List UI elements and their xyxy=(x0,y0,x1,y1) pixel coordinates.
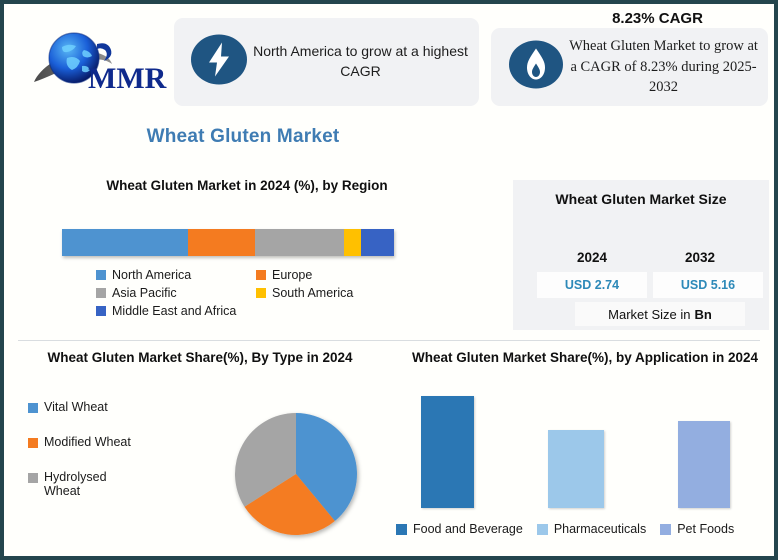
legend-label: Food and Beverage xyxy=(413,522,523,536)
cagr-description: Wheat Gluten Market to grow at a CAGR of… xyxy=(569,36,758,98)
legend-label: South America xyxy=(272,286,353,300)
region-segment-middle-east-africa xyxy=(361,229,394,256)
legend-swatch-south-america xyxy=(256,288,266,298)
svg-text:MMR: MMR xyxy=(88,62,167,95)
application-bar-plot xyxy=(396,396,774,508)
legend-label: North America xyxy=(112,268,191,282)
region-chart-title: Wheat Gluten Market in 2024 (%), by Regi… xyxy=(4,178,490,193)
infographic-frame: MMR North America to grow at a highest C… xyxy=(0,0,778,560)
market-size-year-2032: 2032 xyxy=(645,250,755,265)
market-size-unit: Bn xyxy=(695,307,712,322)
page-title: Wheat Gluten Market xyxy=(4,126,482,148)
mmr-logo: MMR xyxy=(26,24,176,96)
legend-label: Pharmaceuticals xyxy=(554,522,646,536)
type-pie-chart xyxy=(232,410,364,542)
legend-label: Asia Pacific xyxy=(112,286,177,300)
legend-item-middle-east-and-africa: Middle East and Africa xyxy=(96,304,356,318)
legend-swatch-middle-east-and-africa xyxy=(96,306,106,316)
region-segment-north-america xyxy=(62,229,188,256)
legend-row: Asia Pacific South America xyxy=(96,284,446,302)
region-segment-europe xyxy=(188,229,254,256)
legend-item-north-america: North America xyxy=(96,268,256,282)
cagr-badge: Wheat Gluten Market to grow at a CAGR of… xyxy=(491,28,768,106)
legend-item-hydrolysed-wheat: Hydrolysed Wheat xyxy=(28,470,138,498)
market-size-unit-note: Market Size in Bn xyxy=(575,302,745,326)
legend-item-modified-wheat: Modified Wheat xyxy=(28,435,198,449)
market-size-value-2024: USD 2.74 xyxy=(537,272,647,298)
legend-label: Middle East and Africa xyxy=(112,304,236,318)
legend-label: Pet Foods xyxy=(677,522,734,536)
legend-label: Hydrolysed Wheat xyxy=(44,470,138,498)
legend-swatch-modified-wheat xyxy=(28,438,38,448)
legend-item-vital-wheat: Vital Wheat xyxy=(28,400,198,414)
legend-row: Middle East and Africa xyxy=(96,302,446,320)
legend-item-europe: Europe xyxy=(256,268,426,282)
app-bar-pet-foods xyxy=(678,421,730,508)
legend-swatch-vital-wheat xyxy=(28,403,38,413)
type-chart-title: Wheat Gluten Market Share(%), By Type in… xyxy=(10,348,390,368)
pie-svg xyxy=(232,410,364,542)
flame-icon xyxy=(507,36,565,99)
header: MMR North America to grow at a highest C… xyxy=(4,4,774,116)
market-size-unit-prefix: Market Size in xyxy=(608,307,690,322)
mmr-logo-graphic: MMR xyxy=(26,24,176,96)
app-bar-pharmaceuticals xyxy=(548,430,604,508)
market-size-year-2024: 2024 xyxy=(537,250,647,265)
lightning-bolt-icon xyxy=(190,31,248,94)
market-size-title: Wheat Gluten Market Size xyxy=(513,190,769,209)
legend-item-asia-pacific: Asia Pacific xyxy=(96,286,256,300)
legend-item-pharmaceuticals: Pharmaceuticals xyxy=(537,522,646,536)
cagr-heading: 8.23% CAGR xyxy=(491,10,768,27)
legend-swatch-hydrolysed-wheat xyxy=(28,473,38,483)
legend-item-pet-foods: Pet Foods xyxy=(660,522,734,536)
app-bar-food-and-beverage xyxy=(421,396,474,508)
legend-label: Vital Wheat xyxy=(44,400,108,414)
region-segment-south-america xyxy=(344,229,361,256)
legend-swatch-food-and-beverage xyxy=(396,524,407,535)
legend-label: Europe xyxy=(272,268,312,282)
legend-swatch-asia-pacific xyxy=(96,288,106,298)
section-divider xyxy=(18,340,760,341)
legend-label: Modified Wheat xyxy=(44,435,131,449)
region-stacked-bar xyxy=(62,229,394,256)
application-chart-title: Wheat Gluten Market Share(%), by Applica… xyxy=(396,348,774,368)
north-america-cagr-text: North America to grow at a highest CAGR xyxy=(252,42,469,82)
legend-swatch-pet-foods xyxy=(660,524,671,535)
legend-item-food-and-beverage: Food and Beverage xyxy=(396,522,523,536)
region-segment-asia-pacific xyxy=(255,229,345,256)
market-size-panel: Wheat Gluten Market Size 2024 2032 USD 2… xyxy=(513,180,769,330)
north-america-cagr-badge: North America to grow at a highest CAGR xyxy=(174,18,479,106)
legend-swatch-europe xyxy=(256,270,266,280)
legend-swatch-pharmaceuticals xyxy=(537,524,548,535)
type-legend: Vital Wheat Modified Wheat Hydrolysed Wh… xyxy=(28,400,198,519)
region-legend: North America Europe Asia Pacific South … xyxy=(96,266,446,320)
legend-row: North America Europe xyxy=(96,266,446,284)
legend-swatch-north-america xyxy=(96,270,106,280)
legend-item-south-america: South America xyxy=(256,286,426,300)
application-legend: Food and Beverage Pharmaceuticals Pet Fo… xyxy=(396,522,774,536)
market-size-value-2032: USD 5.16 xyxy=(653,272,763,298)
